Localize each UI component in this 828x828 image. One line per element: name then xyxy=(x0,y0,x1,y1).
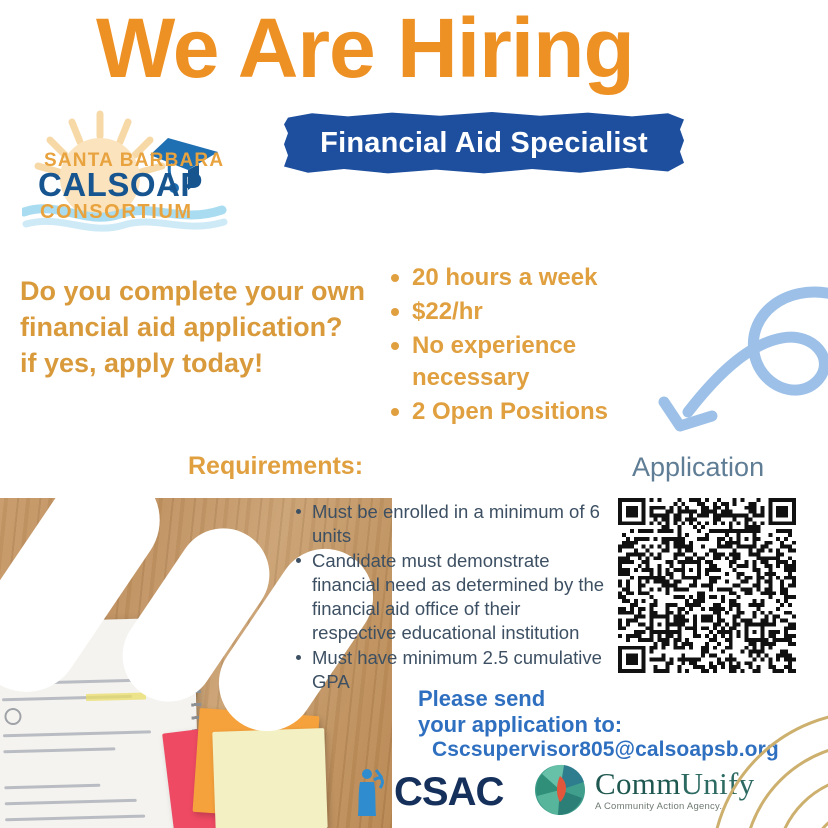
list-item: 20 hours a week xyxy=(388,262,658,294)
smiley-doodle xyxy=(4,708,21,725)
x-mark-grid-icon xyxy=(703,158,811,258)
sticky-note-yellow xyxy=(212,728,327,828)
role-banner: Financial Aid Specialist xyxy=(284,112,684,174)
communify-prefix: Comm xyxy=(595,766,681,801)
logo-line2: CALSOAP xyxy=(38,166,203,203)
list-item: 2 Open Positions xyxy=(388,396,658,428)
question-text: Do you complete your own financial aid a… xyxy=(20,274,370,382)
requirements-title: Requirements: xyxy=(188,452,363,481)
csac-figure-icon xyxy=(352,766,386,818)
list-item: Must be enrolled in a minimum of 6 units xyxy=(296,500,608,548)
qr-code-canvas xyxy=(618,498,796,673)
requirements-list: Must be enrolled in a minimum of 6 units… xyxy=(296,500,608,695)
perks-list: 20 hours a week $22/hr No experience nec… xyxy=(388,262,658,430)
csac-wordmark: CSAC xyxy=(394,772,503,812)
communify-suffix: Unify xyxy=(681,766,755,801)
partner-logos: CSAC CommUnify A Community Action Agency… xyxy=(352,764,752,824)
hiring-flyer: We Are Hiring xyxy=(0,0,828,828)
page-title: We Are Hiring xyxy=(96,4,736,92)
list-item: Candidate must demonstrate financial nee… xyxy=(296,549,608,645)
csac-logo: CSAC xyxy=(352,766,503,818)
qr-code-icon[interactable] xyxy=(618,498,796,673)
communify-tagline: A Community Action Agency. xyxy=(595,802,754,812)
list-item: No experience necessary xyxy=(388,330,658,394)
curved-arrow-icon xyxy=(636,276,828,456)
list-item: $22/hr xyxy=(388,296,658,328)
application-label: Application xyxy=(632,452,764,483)
communify-wordmark: CommUnify xyxy=(595,768,754,799)
role-banner-label: Financial Aid Specialist xyxy=(284,112,684,174)
calsoap-logo: SANTA BARBARA CALSOAP CONSORTIUM xyxy=(22,108,232,238)
dotted-rule-icon xyxy=(20,256,112,264)
logo-line3: CONSORTIUM xyxy=(40,201,193,223)
send-application-note: Please sendyour application to: xyxy=(418,686,738,738)
communify-logo: CommUnify A Community Action Agency. xyxy=(534,764,754,816)
communify-orb-icon xyxy=(534,764,586,816)
application-email[interactable]: Cscsupervisor805@calsoapsb.org xyxy=(432,738,779,762)
